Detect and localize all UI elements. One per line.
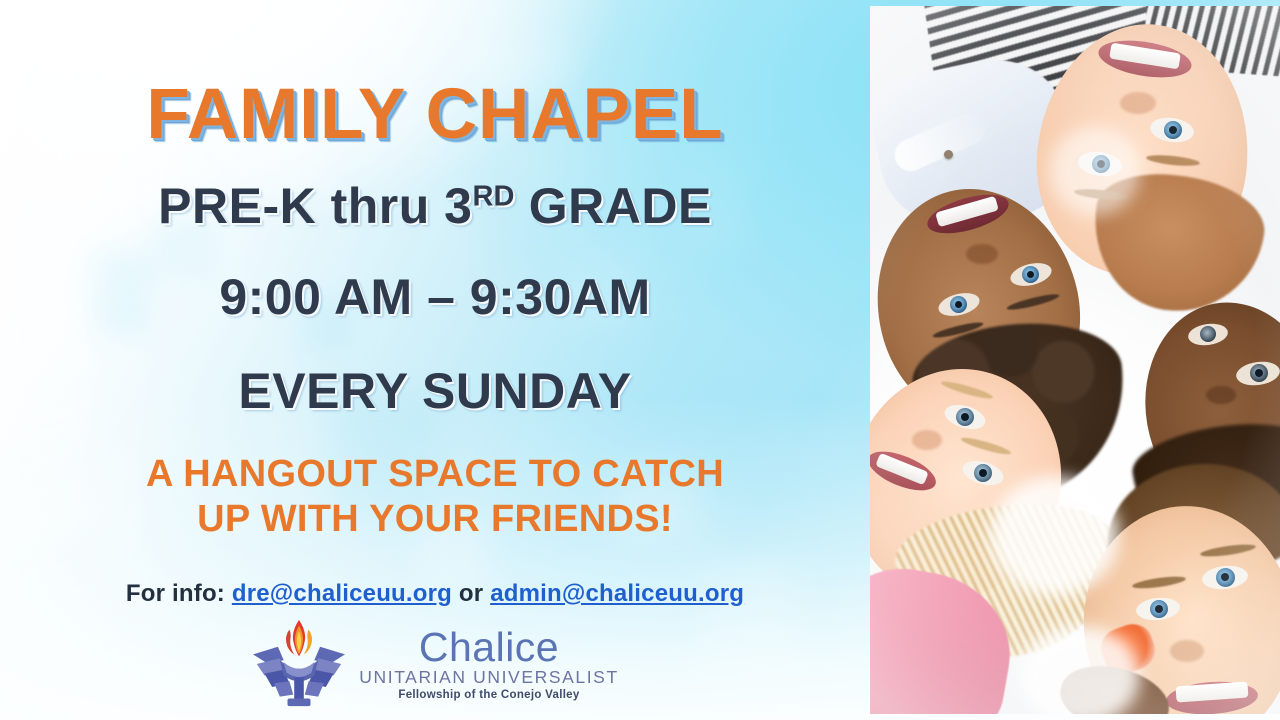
logo-wordmark: Chalice UNITARIAN UNIVERSALIST Fellowshi… (359, 627, 619, 702)
pupil-left-blonde-girl (961, 413, 969, 421)
contact-prefix: For info: (126, 580, 232, 607)
pupil-right-curly-girl (955, 301, 962, 308)
pupil-left-blond-boy (1169, 126, 1177, 134)
tagline-line-1: A HANGOUT SPACE TO CATCH (146, 453, 724, 495)
time-range-line: 9:00 AM – 9:30AM (0, 268, 870, 326)
grade-range-line: PRE-K thru 3RD GRADE (0, 177, 870, 235)
pupil-right-blonde-girl (979, 469, 987, 477)
poster-canvas: FAMILY CHAPEL PRE-K thru 3RD GRADE 9:00 … (0, 0, 1280, 720)
poster-content: FAMILY CHAPEL PRE-K thru 3RD GRADE 9:00 … (0, 0, 870, 720)
nose-blond-boy (1120, 92, 1156, 114)
email-link-dre[interactable]: dre@chaliceuu.org (232, 580, 452, 607)
poster-title: FAMILY CHAPEL (0, 74, 870, 155)
grade-range-suffix: GRADE (514, 178, 711, 234)
nose-bottom-boy (1170, 640, 1204, 662)
nose-curly-girl (966, 244, 998, 264)
children-photo (870, 6, 1280, 714)
contact-separator: or (452, 580, 490, 607)
iris-right-dark-boy (1200, 326, 1216, 342)
chalice-logo: Chalice UNITARIAN UNIVERSALIST Fellowshi… (0, 618, 870, 710)
tagline-line-2: UP WITH YOUR FRIENDS! (0, 497, 870, 542)
shirt-button (944, 150, 953, 159)
flaming-chalice-emblem-icon (251, 618, 347, 710)
children-photo-illustration (870, 6, 1280, 714)
logo-affiliation: UNITARIAN UNIVERSALIST (359, 669, 619, 687)
logo-fellowship: Fellowship of the Conejo Valley (359, 690, 619, 702)
contact-line: For info: dre@chaliceuu.org or admin@cha… (0, 580, 870, 608)
day-line: EVERY SUNDAY (0, 362, 870, 420)
pupil-left-bottom-boy (1221, 573, 1229, 581)
tagline: A HANGOUT SPACE TO CATCH UP WITH YOUR FR… (0, 452, 870, 542)
photo-backlight-center (990, 476, 1120, 596)
email-link-admin[interactable]: admin@chaliceuu.org (490, 580, 744, 607)
pupil-left-dark-boy (1255, 369, 1263, 377)
photo-backlight-top (1050, 126, 1140, 216)
pupil-right-bottom-boy (1155, 605, 1163, 613)
nose-dark-boy (1206, 386, 1236, 404)
pupil-left-curly-girl (1027, 271, 1034, 278)
grade-range-prefix: PRE-K thru 3 (158, 178, 472, 234)
logo-name: Chalice (359, 627, 619, 668)
nose-blonde-girl (912, 430, 942, 450)
grade-range-ordinal: RD (473, 180, 515, 212)
